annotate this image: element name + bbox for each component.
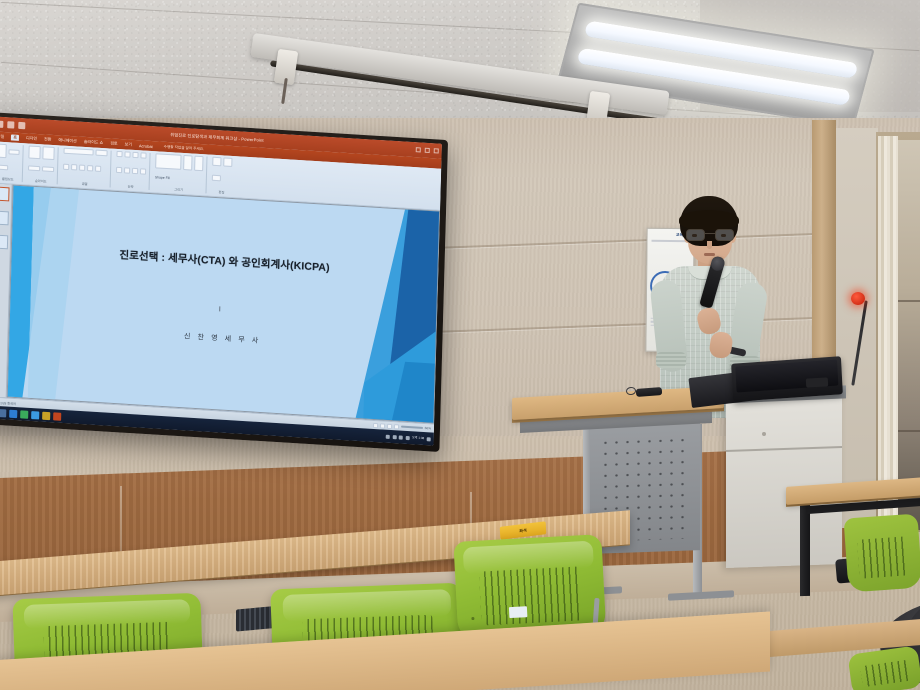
line-spacing-icon[interactable] — [140, 152, 146, 158]
reset-icon[interactable] — [28, 165, 40, 171]
slide-subtitle-text[interactable]: 신 찬 영 세 무 사 — [10, 321, 436, 357]
bullets-icon[interactable] — [116, 151, 122, 157]
numbering-icon[interactable] — [124, 151, 130, 157]
editor-body: 2 3 진로선택 : 세무사(CTA) 와 공 — [0, 183, 440, 423]
shape-fill-label[interactable]: Shape Fill — [155, 175, 170, 180]
microphone-indicator-light — [851, 292, 865, 305]
slide-thumbnail[interactable] — [0, 234, 8, 249]
notification-icon[interactable] — [427, 437, 431, 441]
tab-home[interactable]: 홈 — [11, 134, 19, 140]
tab-design[interactable]: 디자인 — [26, 135, 37, 142]
align-center-icon[interactable] — [124, 167, 130, 173]
classroom-photo: 취업진로 진로탐색과 제무회계 워크샵 - PowerPoint 파일 홈 디자… — [0, 0, 920, 690]
slide-shape-left-light — [27, 186, 80, 423]
ribbon-group-font[interactable]: 글꼴 — [60, 147, 112, 187]
eye — [692, 234, 697, 237]
slideshow-icon[interactable] — [394, 424, 399, 429]
task-view-icon[interactable] — [0, 408, 6, 416]
tab-transitions[interactable]: 전환 — [44, 136, 52, 142]
close-icon[interactable] — [434, 148, 439, 153]
sleeve-cuff — [656, 352, 686, 368]
window-glass — [898, 140, 920, 530]
restore-icon[interactable] — [425, 148, 430, 153]
ribbon-group-editing[interactable]: 편집 — [208, 157, 235, 196]
chair-back-slots — [857, 536, 910, 578]
cut-icon[interactable] — [9, 149, 20, 155]
wall-mounted-display[interactable]: 취업진로 진로탐색과 제무회계 워크샵 - PowerPoint 파일 홈 디자… — [0, 112, 448, 452]
desk-frame — [800, 500, 810, 596]
section-icon[interactable] — [42, 166, 54, 172]
ribbon-group-drawing[interactable]: Shape Fill 그리기 — [152, 153, 208, 193]
tab-acrobat[interactable]: Acrobat — [139, 143, 153, 149]
taskbar-icons[interactable] — [0, 408, 61, 421]
tell-me-box[interactable]: 수행할 작업을 알려 주세요. — [164, 144, 204, 151]
chair-back-slots — [860, 659, 910, 687]
minimize-icon[interactable] — [416, 147, 421, 152]
chrome-browser-icon[interactable] — [20, 410, 28, 418]
paste-icon[interactable] — [0, 144, 7, 159]
layout-icon[interactable] — [42, 146, 54, 160]
zoom-level: 66% — [425, 426, 431, 430]
eyeglasses-icon — [685, 229, 735, 241]
text-cursor — [219, 306, 220, 311]
slide-sorter-icon[interactable] — [380, 423, 385, 428]
powerpoint-icon[interactable] — [53, 412, 61, 420]
podium-control-plate — [806, 377, 828, 387]
group-label-clipboard: 클립보드 — [0, 176, 19, 182]
reading-view-icon[interactable] — [387, 423, 392, 428]
window-mullion — [898, 300, 920, 302]
group-label-drawing: 그리기 — [155, 185, 203, 193]
explorer-icon[interactable] — [31, 411, 39, 419]
slide-counter: 슬라이드 1/28 한국어 — [0, 399, 16, 406]
input-method-icon[interactable] — [386, 434, 390, 438]
nose — [707, 241, 712, 249]
display-bezel: 취업진로 진로탐색과 제무회계 워크샵 - PowerPoint 파일 홈 디자… — [0, 116, 442, 445]
align-right-icon[interactable] — [132, 168, 138, 174]
select-icon[interactable] — [212, 174, 221, 181]
font-family-select[interactable] — [64, 148, 94, 156]
group-label-paragraph: 단락 — [116, 183, 146, 190]
slide-thumbnail[interactable] — [0, 210, 9, 225]
current-slide[interactable]: 진로선택 : 세무사(CTA) 와 공인회계사(KICPA) 신 찬 영 세 무… — [8, 186, 439, 423]
copy-icon[interactable] — [0, 164, 8, 170]
monitor-screen — [735, 359, 838, 392]
taskbar-clock[interactable]: 오후 1:38 — [412, 436, 424, 440]
podium-screw — [762, 432, 766, 436]
ribbon-group-paragraph[interactable]: 단락 — [113, 151, 151, 190]
chair-back-slots — [479, 567, 582, 626]
zoom-slider[interactable] — [401, 426, 423, 429]
text-shadow-icon[interactable] — [87, 165, 93, 171]
network-icon[interactable] — [392, 435, 396, 439]
find-icon[interactable] — [212, 157, 221, 167]
hair-fringe — [679, 210, 739, 230]
group-label-font: 글꼴 — [63, 180, 107, 188]
underline-icon[interactable] — [79, 165, 85, 171]
align-left-icon[interactable] — [116, 167, 122, 173]
quick-styles-icon[interactable] — [194, 156, 203, 172]
normal-view-icon[interactable] — [373, 422, 378, 427]
system-tray[interactable]: 오후 1:38 — [386, 434, 431, 441]
green-chair-right-side — [844, 514, 920, 593]
folder-icon[interactable] — [42, 411, 50, 419]
slide-thumbnail-number: 3 — [0, 227, 8, 232]
bold-icon[interactable] — [63, 164, 69, 170]
justify-icon[interactable] — [140, 168, 146, 174]
battery-icon[interactable] — [405, 435, 409, 439]
italic-icon[interactable] — [71, 164, 77, 170]
arrange-icon[interactable] — [183, 155, 192, 171]
window-mullion — [898, 430, 920, 432]
right-wall — [836, 128, 878, 528]
volume-icon[interactable] — [399, 435, 403, 439]
slide-stage[interactable]: 진로선택 : 세무사(CTA) 와 공인회계사(KICPA) 신 찬 영 세 무… — [7, 185, 440, 424]
podium — [726, 394, 842, 568]
tab-animations[interactable]: 애니메이션 — [58, 137, 77, 144]
new-slide-icon[interactable] — [28, 146, 40, 160]
group-label-slides: 슬라이드 — [28, 177, 54, 184]
tab-file[interactable]: 파일 — [0, 134, 4, 140]
chair-asset-label — [509, 606, 528, 618]
ribbon-group-slides[interactable]: 슬라이드 — [25, 145, 59, 184]
edge-browser-icon[interactable] — [9, 409, 17, 417]
indent-icon[interactable] — [132, 152, 138, 158]
group-label-editing: 편집 — [211, 189, 231, 195]
shapes-gallery[interactable] — [155, 153, 181, 170]
window-curtain — [878, 136, 898, 528]
eyeglass-bridge — [705, 233, 715, 234]
slide-title-text[interactable]: 진로선택 : 세무사(CTA) 와 공인회계사(KICPA) — [12, 240, 438, 281]
powerpoint-window[interactable]: 취업진로 진로탐색과 제무회계 워크샵 - PowerPoint 파일 홈 디자… — [0, 116, 442, 445]
slide-thumbnail-number: 2 — [0, 203, 9, 208]
tab-slideshow[interactable]: 슬라이드 쇼 — [84, 139, 104, 146]
mouth — [704, 253, 715, 256]
font-color-icon[interactable] — [95, 166, 101, 172]
eye — [721, 234, 726, 237]
chair-rivet — [471, 617, 474, 620]
replace-icon[interactable] — [223, 157, 232, 167]
ribbon-group-clipboard[interactable]: 클립보드 — [0, 143, 24, 182]
font-size-select[interactable] — [95, 150, 107, 157]
tab-review[interactable]: 검토 — [110, 140, 118, 146]
tab-view[interactable]: 보기 — [125, 141, 133, 147]
slide-thumbnail[interactable] — [0, 186, 10, 201]
